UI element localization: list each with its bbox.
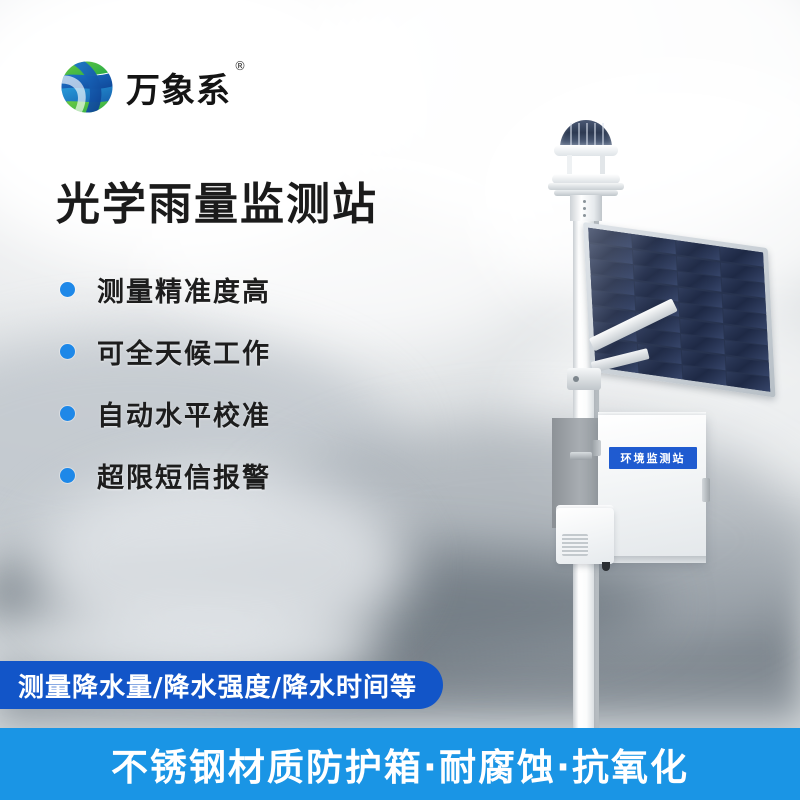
bottom-bar-text: 不锈钢材质防护箱·耐腐蚀·抗氧化 [111,737,689,791]
list-item: 超限短信报警 [60,444,271,506]
list-item: 自动水平校准 [60,382,271,444]
list-item: 可全天候工作 [60,320,271,382]
product-poster: 环境监测站 [0,0,800,800]
globe-swirl-logo-icon [58,58,116,116]
trademark-symbol: ® [234,59,247,73]
blue-dot-icon [60,344,75,359]
feature-label: 可全天候工作 [97,332,271,371]
bottom-bar: 不锈钢材质防护箱·耐腐蚀·抗氧化 [0,728,800,800]
measurement-banner: 测量降水量/降水强度/降水时间等 [0,661,443,709]
blue-dot-icon [60,406,75,421]
brand-name-text: 万象系 [126,71,231,111]
brand-logo: 万象系 ® [58,58,231,116]
blue-dot-icon [60,468,75,483]
feature-label: 测量精准度高 [97,270,271,309]
feature-list: 测量精准度高 可全天候工作 自动水平校准 超限短信报警 [60,258,271,506]
brand-name: 万象系 ® [126,63,231,112]
feature-label: 超限短信报警 [97,456,271,495]
page-title: 光学雨量监测站 [56,168,378,232]
feature-label: 自动水平校准 [97,394,271,433]
blue-dot-icon [60,282,75,297]
list-item: 测量精准度高 [60,258,271,320]
measurement-banner-text: 测量降水量/降水强度/降水时间等 [18,667,417,704]
